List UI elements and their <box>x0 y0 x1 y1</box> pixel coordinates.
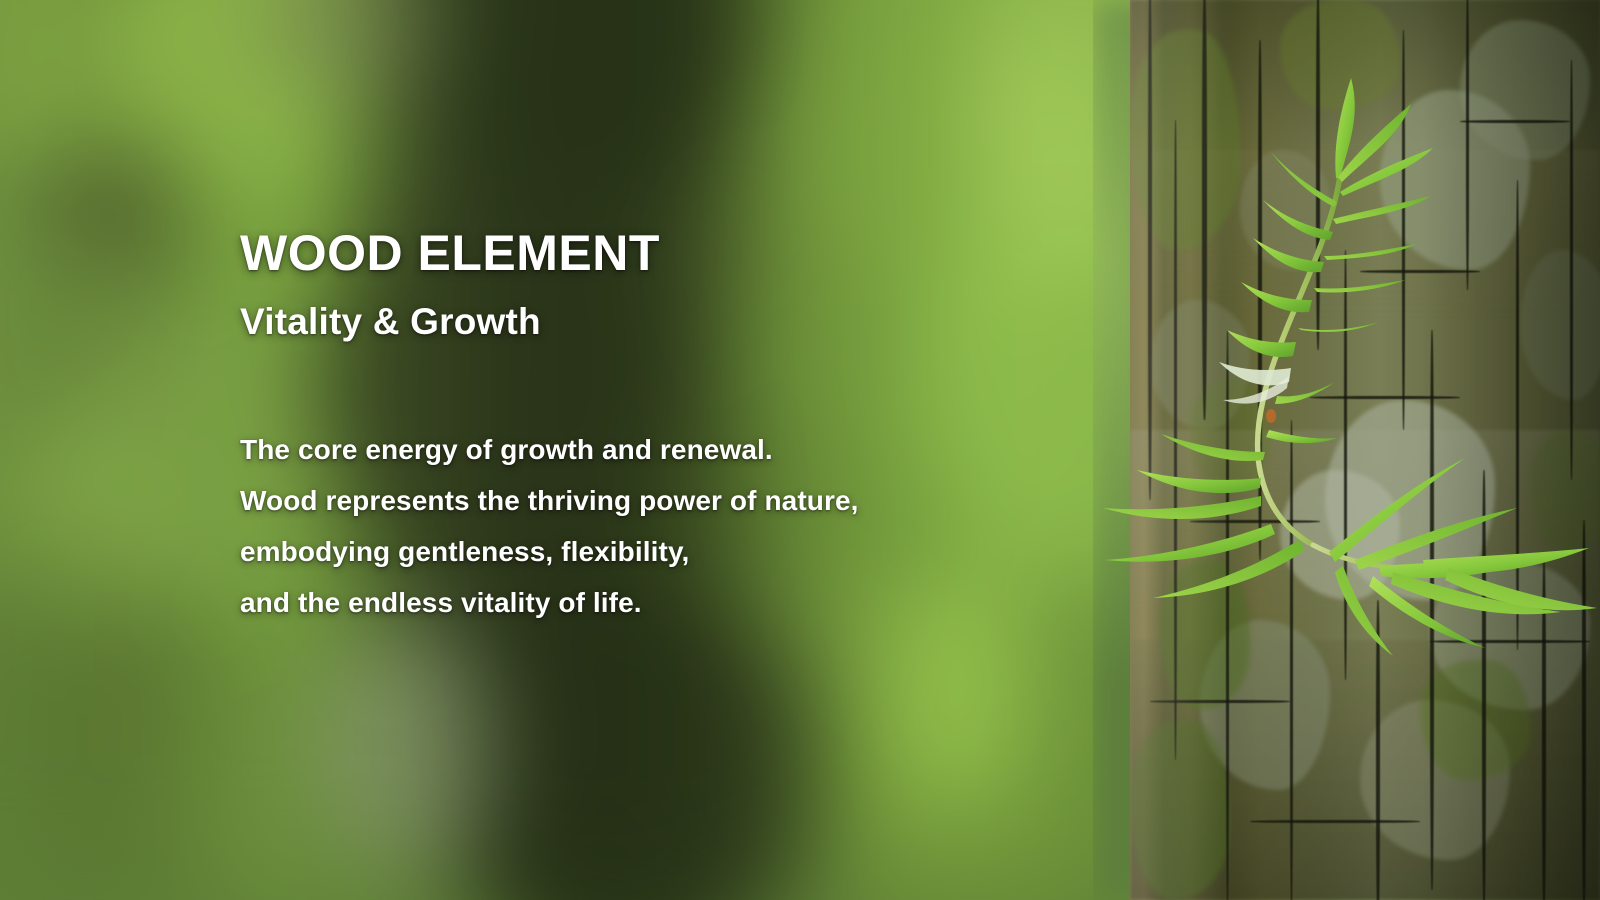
slide-canvas: WOOD ELEMENT Vitality & Growth The core … <box>0 0 1600 900</box>
body-line-2: Wood represents the thriving power of na… <box>240 475 859 526</box>
tree-trunk <box>1130 0 1600 900</box>
body-paragraph: The core energy of growth and renewal. W… <box>240 424 859 628</box>
page-subtitle: Vitality & Growth <box>240 303 541 340</box>
body-line-1: The core energy of growth and renewal. <box>240 424 859 475</box>
tree-bark-photo <box>1093 0 1600 900</box>
body-line-3: embodying gentleness, flexibility, <box>240 526 859 577</box>
body-line-4: and the endless vitality of life. <box>240 577 859 628</box>
page-title: WOOD ELEMENT <box>240 228 660 278</box>
